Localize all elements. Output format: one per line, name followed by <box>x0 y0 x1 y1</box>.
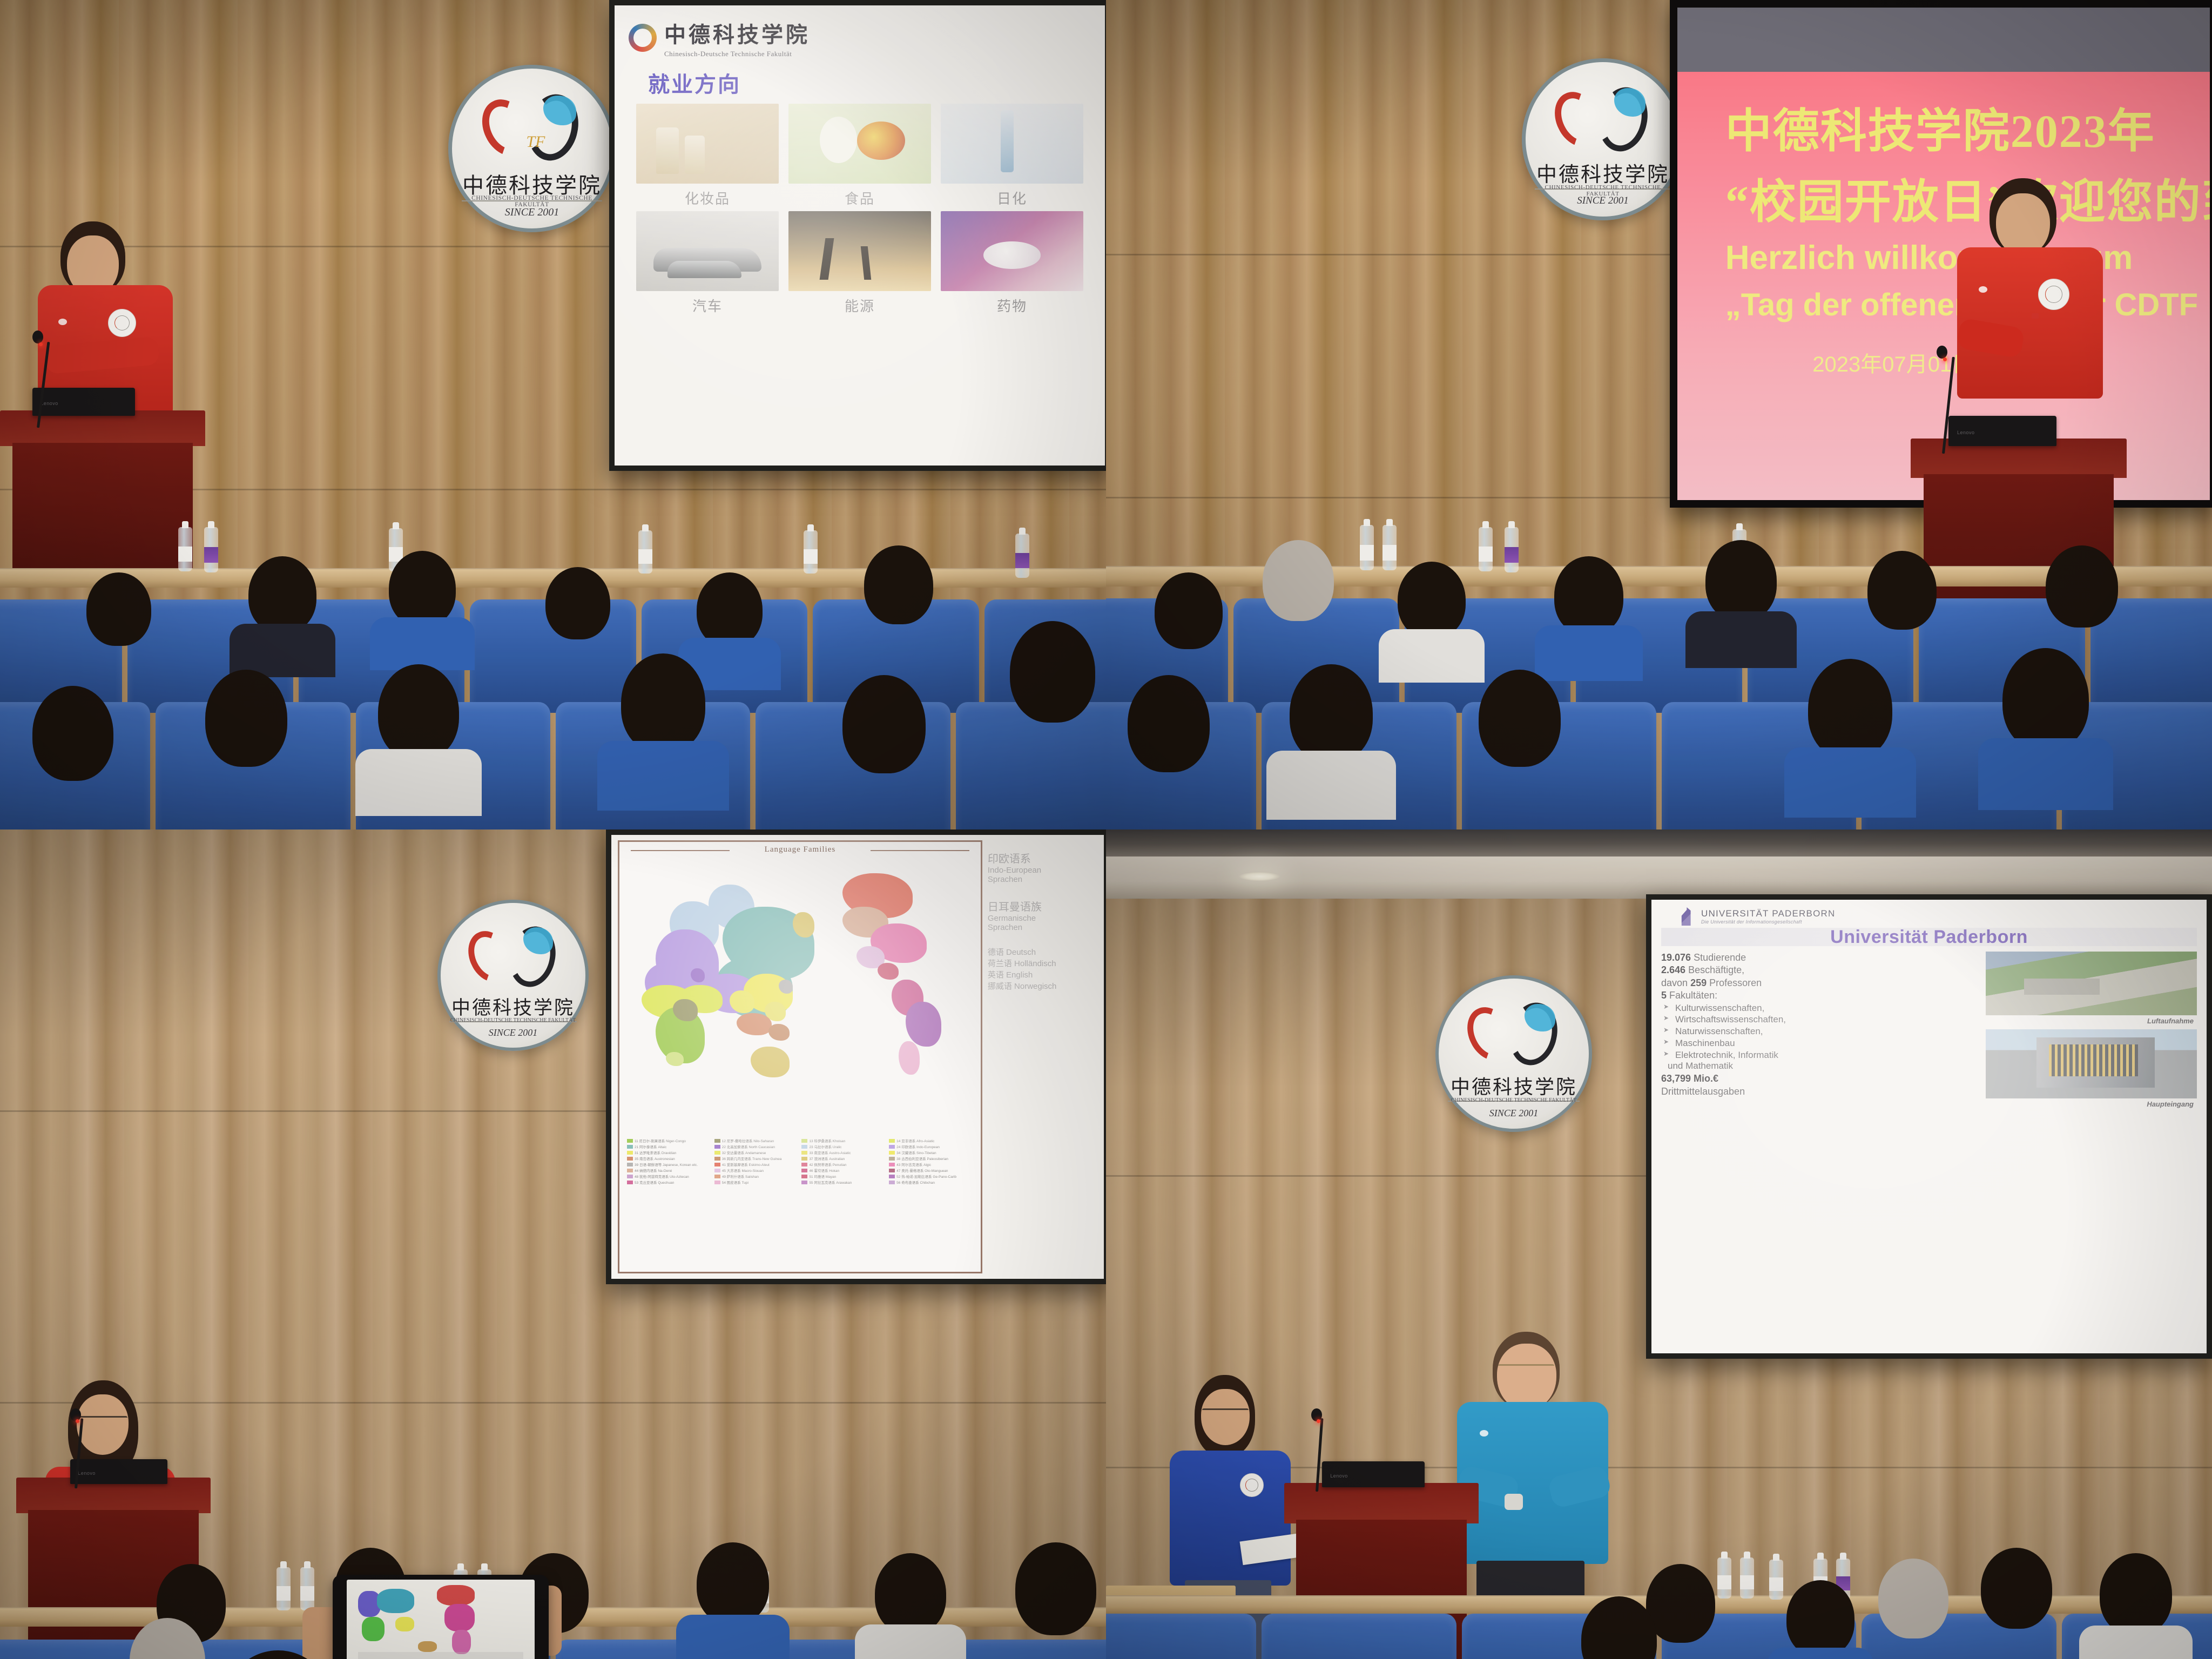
side-note: 英语 English <box>988 969 1102 980</box>
legend-swatch <box>714 1151 720 1155</box>
legend-item: 42 佩努蒂语系 Penutian <box>801 1162 886 1167</box>
legend-item: 36 跨新几内亚语系 Trans-New Guinea <box>714 1156 799 1161</box>
legend-label: 33 南亚语系 Austro-Asiatic <box>809 1150 851 1155</box>
water-bottle <box>178 527 192 571</box>
upb-logo-tagline: Die Universität der Informationsgesellsc… <box>1701 919 1835 925</box>
photo-bottom-right: 中德科技学院 CHINESISCH-DEUTSCHE TECHNISCHE FA… <box>1106 829 2212 1659</box>
legend-swatch <box>627 1157 633 1161</box>
side-note: Indo-European <box>988 866 1102 875</box>
welcome-line-1: 中德科技学院2023年 <box>1725 93 2210 160</box>
projection-screen-2: Language Families <box>606 829 1106 1284</box>
legend-item: 51 玛雅语 Mayan <box>801 1174 886 1179</box>
legend-swatch <box>714 1169 720 1172</box>
legend-item: 53 克丘亚语系 Quechuan <box>627 1179 711 1185</box>
audience-head <box>32 686 113 781</box>
legend-label: 38 古西伯利亚语系 Paleosiberian <box>896 1156 948 1161</box>
legend-label: 42 佩努蒂语系 Penutian <box>809 1162 846 1167</box>
legend-label: 56 奇布查语系 Chibchan <box>896 1179 935 1185</box>
water-bottle <box>638 530 652 574</box>
legend-item: 34 汉藏语系 Sino-Tibetan <box>889 1150 973 1155</box>
wall-logo-german: CHINESISCH-DEUTSCHE TECHNISCHE FAKULTÄT <box>445 1017 581 1023</box>
legend-swatch <box>714 1157 720 1161</box>
upb-photos: Luftaufnahme Haupteingang <box>1982 952 2197 1112</box>
legend-swatch <box>889 1163 895 1166</box>
legend-item: 56 奇布查语系 Chibchan <box>889 1179 973 1185</box>
grid-item: 日化 <box>941 104 1083 208</box>
water-bottle <box>1382 525 1397 570</box>
slide-title: Universität Paderborn <box>1830 927 2028 948</box>
legend-item: 37 澳洲语系 Australian <box>801 1156 886 1161</box>
upb-facts: 19.076 Studierende 2.646 Beschäftigte, d… <box>1661 952 1982 1112</box>
glasses-icon <box>78 1416 127 1427</box>
grid-item: 食品 <box>788 104 931 208</box>
legend-item: 54 图皮语系 Tupi <box>714 1179 799 1185</box>
legend-label: 36 跨新几内亚语系 Trans-New Guinea <box>722 1156 782 1161</box>
language-map-card: Language Families <box>618 840 982 1273</box>
legend-item: 41 爱斯基摩语系 Eskimo-Aleut <box>714 1162 799 1167</box>
audience-head <box>2100 1553 2172 1635</box>
legend-swatch <box>801 1169 807 1172</box>
legend-label: 47 奥托-曼格语系 Oto-Manguean <box>896 1168 948 1173</box>
paw-icon <box>1480 1430 1488 1437</box>
legend-item: 13 科伊桑语系 Khoisan <box>801 1138 886 1143</box>
legend-swatch <box>627 1145 633 1149</box>
laptop-lenovo <box>32 388 135 416</box>
fact-faculties: 5 Fakultäten: <box>1661 989 1982 1002</box>
audience-head <box>1981 1548 2052 1629</box>
audience-head <box>1554 556 1623 635</box>
audience-head <box>378 664 459 760</box>
legend-label: 11 尼日尔-刚果语系 Niger-Congo <box>635 1138 686 1143</box>
laptop-lenovo <box>1948 416 2056 446</box>
side-note: 印欧语系 <box>988 850 1102 866</box>
photo-top-left: TF 中德科技学院 CHINESISCH-DEUTSCHE TECHNISCHE… <box>0 0 1106 829</box>
legend-label: 48 犹他-阿兹特克语系 Uto-Aztecan <box>635 1174 689 1179</box>
legend-label: 53 克丘亚语系 Quechuan <box>635 1179 674 1185</box>
audience-head <box>697 1542 769 1624</box>
wall-logo-cdtf: 中德科技学院 CHINESISCH-DEUTSCHE TECHNISCHE FA… <box>437 900 589 1051</box>
legend-item: 39 日语-朝鲜语等 Japanese, Korean etc. <box>627 1162 711 1167</box>
legend-label: 21 阿尔泰语系 Altaic <box>635 1144 666 1149</box>
side-note: 日耳曼语族 <box>988 898 1102 914</box>
legend-label: 22 北高加索语系 North Caucasian <box>722 1144 775 1149</box>
energy-image <box>788 211 931 291</box>
glasses-icon <box>1202 1408 1249 1418</box>
legend-swatch <box>801 1145 807 1149</box>
legend-label: 34 汉藏语系 Sino-Tibetan <box>896 1150 936 1155</box>
side-note: 德语 Deutsch <box>988 946 1102 957</box>
audience-head <box>1010 621 1095 723</box>
legend-label: 39 日语-朝鲜语等 Japanese, Korean etc. <box>635 1162 698 1167</box>
car-image <box>636 211 779 291</box>
audience-head <box>1867 551 1937 630</box>
item-label: 能源 <box>845 295 875 315</box>
world-map <box>624 857 976 1136</box>
legend-item: 32 安达曼语系 Andamanese <box>714 1150 799 1155</box>
legend-item: 48 犹他-阿兹特克语系 Uto-Aztecan <box>627 1174 711 1179</box>
upb-logo-name: UNIVERSITÄT PADERBORN <box>1701 908 1835 919</box>
water-bottle <box>1769 1560 1783 1600</box>
slide-employment-directions: 中德科技学院 Chinesisch-Deutsche Technische Fa… <box>615 5 1105 466</box>
audience-head <box>248 556 316 633</box>
funding-value: 63,799 Mio.€ <box>1661 1073 1718 1084</box>
side-note: 挪威语 Norwegisch <box>988 980 1102 992</box>
audience-head <box>545 567 610 639</box>
audience-head <box>1398 562 1466 638</box>
water-bottle <box>1360 525 1374 570</box>
paw-icon <box>58 319 67 325</box>
legend-swatch <box>889 1181 895 1184</box>
legend-item: 49 萨利什语系 Salishan <box>714 1174 799 1179</box>
wall-logo-cdtf: 中德科技学院 CHINESISCH-DEUTSCHE TECHNISCHE FA… <box>1435 975 1592 1132</box>
microphone-led <box>1943 358 1947 361</box>
legend-swatch <box>801 1181 807 1184</box>
slide-paderborn: UNIVERSITÄT PADERBORN Die Universität de… <box>1651 900 2207 1353</box>
legend-label: 14 亚非语系 Afro-Asiatic <box>896 1138 934 1143</box>
water-bottle <box>300 1567 314 1610</box>
audience-head <box>697 572 763 647</box>
legend-swatch <box>627 1175 633 1178</box>
household-image <box>941 104 1083 184</box>
microphone-head <box>32 331 43 343</box>
slide-language-families: Language Families <box>611 835 1104 1279</box>
fact-staff: 2.646 Beschäftigte, <box>1661 964 1982 976</box>
grid-item: 汽车 <box>636 211 779 315</box>
legend-label: 13 科伊桑语系 Khoisan <box>809 1138 845 1143</box>
fact-professors: davon 259 Professoren <box>1661 977 1982 989</box>
photo-caption: Luftaufnahme <box>1986 1017 2194 1025</box>
water-bottle <box>204 527 218 572</box>
paderborn-logo-icon <box>1681 907 1697 926</box>
legend-label: 55 阿拉瓦克语系 Arawakan <box>809 1179 852 1185</box>
legend-label: 41 爱斯基摩语系 Eskimo-Aleut <box>722 1162 770 1167</box>
glasses-icon <box>1498 1364 1554 1374</box>
side-note: Sprachen <box>988 875 1102 884</box>
legend-swatch <box>889 1139 895 1143</box>
legend-item: 11 尼日尔-刚果语系 Niger-Congo <box>627 1138 711 1143</box>
legend-swatch <box>714 1163 720 1166</box>
side-note: 荷兰语 Holländisch <box>988 957 1102 969</box>
legend-swatch <box>801 1175 807 1178</box>
legend-label: 24 印欧语系 Indo-European <box>896 1144 940 1149</box>
water-bottle <box>1479 527 1493 571</box>
cosmetics-image <box>636 104 779 184</box>
grid-item: 能源 <box>788 211 931 315</box>
legend-label: 35 南岛语系 Austronesian <box>635 1156 675 1161</box>
aerial-photo <box>1986 952 2197 1015</box>
audience-head <box>1290 664 1373 763</box>
legend-swatch <box>627 1151 633 1155</box>
legend-swatch <box>627 1169 633 1172</box>
item-label: 汽车 <box>692 295 723 315</box>
cdtf-shirt-badge <box>2038 279 2069 310</box>
legend-item: 33 南亚语系 Austro-Asiatic <box>801 1150 886 1155</box>
audience-head <box>1646 1564 1715 1643</box>
legend-label: 23 乌拉尔语系 Uralic <box>809 1144 841 1149</box>
water-bottle <box>276 1567 291 1610</box>
side-note: Germanische <box>988 914 1102 923</box>
photo-collage: TF 中德科技学院 CHINESISCH-DEUTSCHE TECHNISCHE… <box>0 0 2212 1659</box>
microphone-head <box>1937 346 1947 359</box>
legend-swatch <box>801 1157 807 1161</box>
legend-swatch <box>801 1139 807 1143</box>
faculty-item: Naturwissenschaften, <box>1661 1026 1982 1037</box>
wall-logo-since: SINCE 2001 <box>1439 1108 1589 1119</box>
cdtf-logo-icon <box>629 24 657 52</box>
map-legend: 11 尼日尔-刚果语系 Niger-Congo12 尼罗-撒哈拉语系 Nilo-… <box>624 1136 976 1185</box>
employment-grid: 化妆品 食品 日化 汽车 能源 药物 <box>629 104 1091 315</box>
legend-item: 35 南岛语系 Austronesian <box>627 1156 711 1161</box>
legend-item: 44 纳德内语系 Na-Dené <box>627 1168 711 1173</box>
audience-head <box>1786 1580 1854 1657</box>
item-label: 化妆品 <box>685 188 730 208</box>
legend-item: 52 热-帕诺-加勒比语系 Ge-Pano-Carib <box>889 1174 973 1179</box>
legend-item: 55 阿拉瓦克语系 Arawakan <box>801 1179 886 1185</box>
wall-logo-since: SINCE 2001 <box>452 206 612 219</box>
legend-label: 51 玛雅语 Mayan <box>809 1174 836 1179</box>
legend-label: 54 图皮语系 Tupi <box>722 1179 748 1185</box>
slide-header-german: Chinesisch-Deutsche Technische Fakultät <box>664 50 810 58</box>
cdtf-shirt-badge <box>1240 1473 1264 1497</box>
faculty-item: Wirtschaftswissenschaften, <box>1661 1014 1982 1026</box>
audience-head <box>389 551 456 626</box>
projection-screen-1: 中德科技学院 Chinesisch-Deutsche Technische Fa… <box>609 0 1106 471</box>
legend-label: 43 阿尔吉克语系 Algic <box>896 1162 931 1167</box>
microphone-led <box>76 1419 79 1423</box>
legend-swatch <box>627 1163 633 1166</box>
logo-tf-text: TF <box>526 133 545 151</box>
party-badge-pin <box>2032 313 2039 319</box>
water-bottle <box>804 530 818 574</box>
smartphone-camera[interactable] <box>333 1575 549 1659</box>
audience-head <box>205 670 287 767</box>
audience-head <box>1705 540 1777 621</box>
wall-logo-cdtf: 中德科技学院 CHINESISCH-DEUTSCHE TECHNISCHE FA… <box>1522 58 1684 220</box>
item-label: 日化 <box>997 188 1027 208</box>
map-title: Language Families <box>624 845 976 854</box>
audience-head <box>1263 540 1334 621</box>
map-side-notes: 印欧语系 Indo-European Sprachen 日耳曼语族 German… <box>982 835 1104 1279</box>
legend-swatch <box>889 1175 895 1178</box>
audience-head <box>86 572 151 646</box>
legend-item: 12 尼罗-撒哈拉语系 Nilo-Saharan <box>714 1138 799 1143</box>
slide-title: 就业方向 <box>648 67 1091 98</box>
water-bottle <box>1505 527 1519 572</box>
ceiling-light <box>1238 872 1280 881</box>
legend-item: 14 亚非语系 Afro-Asiatic <box>889 1138 973 1143</box>
photo-bottom-left: 中德科技学院 CHINESISCH-DEUTSCHE TECHNISCHE FA… <box>0 829 1106 1659</box>
audience-head <box>1808 659 1892 759</box>
faculty-continuation: und Mathematik <box>1661 1061 1982 1071</box>
legend-swatch <box>889 1145 895 1149</box>
legend-item: 23 乌拉尔语系 Uralic <box>801 1144 886 1149</box>
legend-label: 32 安达曼语系 Andamanese <box>722 1150 766 1155</box>
projection-screen-3: UNIVERSITÄT PADERBORN Die Universität de… <box>1646 894 2212 1359</box>
legend-swatch <box>889 1169 895 1172</box>
legend-swatch <box>714 1175 720 1178</box>
legend-item: 21 阿尔泰语系 Altaic <box>627 1144 711 1149</box>
cdtf-shirt-badge <box>108 309 136 337</box>
phone-screen <box>347 1580 535 1659</box>
legend-item: 38 古西伯利亚语系 Paleosiberian <box>889 1156 973 1161</box>
grid-item: 化妆品 <box>636 104 779 208</box>
faculty-item: Maschinenbau <box>1661 1037 1982 1049</box>
wall-logo-cdtf: TF 中德科技学院 CHINESISCH-DEUTSCHE TECHNISCHE… <box>448 65 616 232</box>
grid-item: 药物 <box>941 211 1083 315</box>
legend-label: 12 尼罗-撒哈拉语系 Nilo-Saharan <box>722 1138 774 1143</box>
microphone-led <box>39 342 43 346</box>
audience-head <box>864 545 933 624</box>
wall-logo-since: SINCE 2001 <box>1526 195 1680 207</box>
fact-students: 19.076 Studierende <box>1661 952 1982 964</box>
slide-header: 中德科技学院 Chinesisch-Deutsche Technische Fa… <box>629 17 1091 58</box>
audience-head <box>2002 648 2089 751</box>
faculty-item: Elektrotechnik, Informatik <box>1661 1049 1982 1061</box>
legend-swatch <box>889 1151 895 1155</box>
legend-swatch <box>801 1151 807 1155</box>
pharma-image <box>941 211 1083 291</box>
legend-item: 47 奥托-曼格语系 Oto-Manguean <box>889 1168 973 1173</box>
audience-head <box>621 653 705 753</box>
water-bottle <box>1015 534 1029 578</box>
legend-swatch <box>627 1139 633 1143</box>
audience-head <box>1015 1542 1096 1635</box>
legend-item: 22 北高加索语系 North Caucasian <box>714 1144 799 1149</box>
podium-1 <box>0 410 205 572</box>
legend-label: 37 澳洲语系 Australian <box>809 1156 845 1161</box>
microphone-led <box>1317 1419 1320 1423</box>
legend-label: 45 大苏语系 Macro-Siouan <box>722 1168 764 1173</box>
slide-header-chinese: 中德科技学院 <box>664 17 810 49</box>
seat-row <box>0 702 1106 829</box>
audience-head <box>875 1553 946 1634</box>
audience-head <box>1878 1559 1948 1638</box>
laptop-lenovo <box>70 1459 167 1484</box>
water-bottle <box>1717 1557 1731 1599</box>
laptop-lenovo <box>1322 1461 1425 1487</box>
legend-label: 44 纳德内语系 Na-Dené <box>635 1168 672 1173</box>
upb-logo-row: UNIVERSITÄT PADERBORN Die Universität de… <box>1681 907 2197 926</box>
legend-label: 46 霍坎语系 Hokan <box>809 1168 839 1173</box>
legend-swatch <box>714 1145 720 1149</box>
legend-swatch <box>627 1181 633 1184</box>
photo-top-right: 中德科技学院 CHINESISCH-DEUTSCHE TECHNISCHE FA… <box>1106 0 2212 829</box>
item-label: 食品 <box>845 188 875 208</box>
upb-title-band: Universität Paderborn <box>1661 928 2197 946</box>
legend-item: 31 达罗毗荼语系 Dravidian <box>627 1150 711 1155</box>
audience-head <box>2046 545 2118 628</box>
food-image <box>788 104 931 184</box>
legend-label: 31 达罗毗荼语系 Dravidian <box>635 1150 676 1155</box>
audience-head <box>1155 572 1223 649</box>
entrance-photo <box>1986 1029 2197 1098</box>
photo-caption: Haupteingang <box>1986 1100 2194 1108</box>
legend-item: 45 大苏语系 Macro-Siouan <box>714 1168 799 1173</box>
legend-label: 49 萨利什语系 Salishan <box>722 1174 759 1179</box>
legend-swatch <box>714 1181 720 1184</box>
wall-logo-since: SINCE 2001 <box>441 1027 585 1038</box>
funding-label: Drittmittelausgaben <box>1661 1085 1982 1098</box>
wall-logo-german: CHINESISCH-DEUTSCHE TECHNISCHE FAKULTÄT <box>1443 1097 1584 1103</box>
audience-head <box>1128 675 1210 772</box>
legend-swatch <box>889 1157 895 1161</box>
legend-item: 46 霍坎语系 Hokan <box>801 1168 886 1173</box>
side-note: Sprachen <box>988 923 1102 932</box>
audience-head <box>842 675 926 773</box>
smartwatch-icon <box>1505 1494 1523 1510</box>
faculty-item: Kulturwissenschaften, <box>1661 1002 1982 1014</box>
legend-item: 43 阿尔吉克语系 Algic <box>889 1162 973 1167</box>
audience-head <box>1479 670 1561 767</box>
legend-swatch <box>801 1163 807 1166</box>
paw-icon <box>1979 286 1987 293</box>
legend-label: 52 热-帕诺-加勒比语系 Ge-Pano-Carib <box>896 1174 956 1179</box>
legend-item: 24 印欧语系 Indo-European <box>889 1144 973 1149</box>
item-label: 药物 <box>997 295 1027 315</box>
legend-swatch <box>714 1139 720 1143</box>
led-display-panel: 中德科技学院2023年 “校园开放日”欢迎您的到来 Herzlich willk… <box>1670 0 2212 508</box>
water-bottle <box>1740 1557 1754 1599</box>
